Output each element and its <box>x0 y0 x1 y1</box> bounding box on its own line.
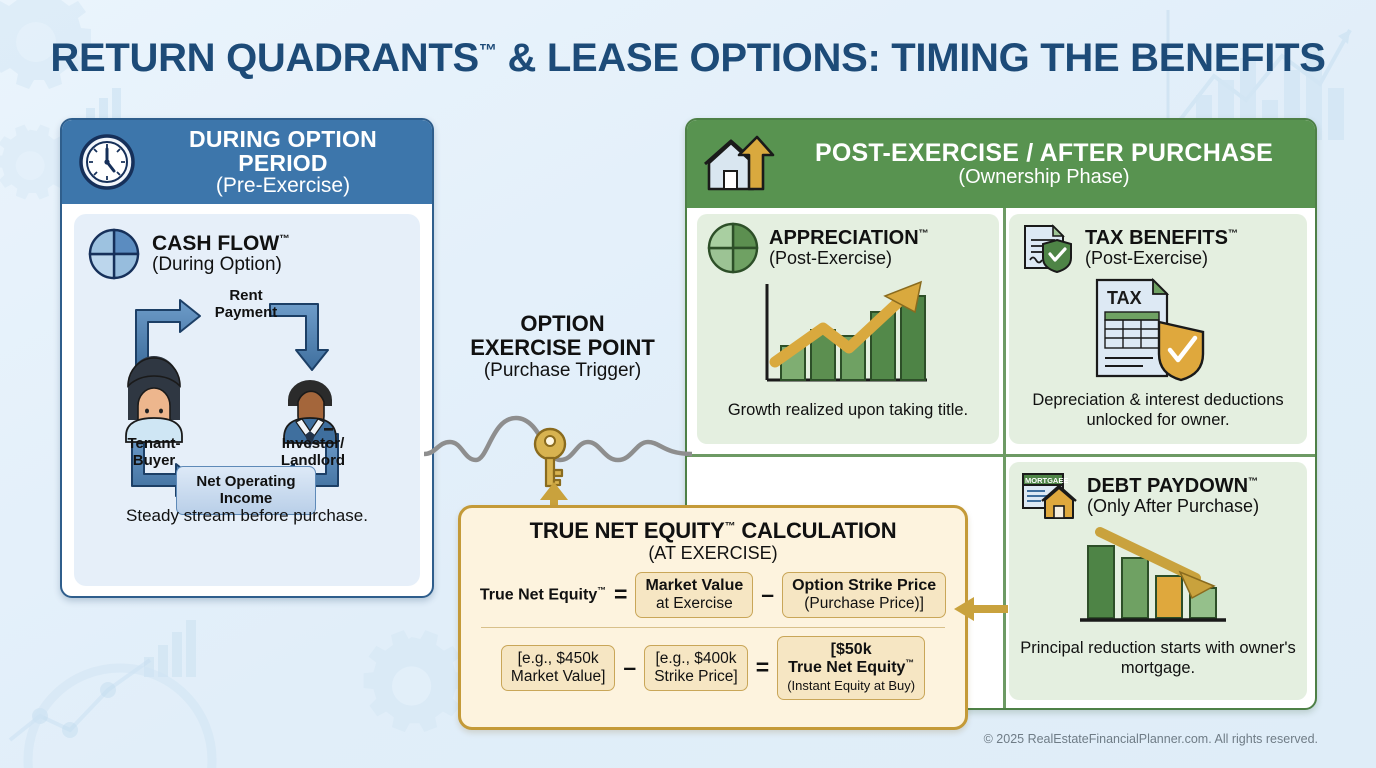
tne-chip4-line2: Strike Price] <box>654 668 738 685</box>
tne-formula-row-2: [e.g., $450k Market Value] – [e.g., $400… <box>475 636 951 700</box>
tne-formula-lead: True Net Equity™ <box>480 585 606 604</box>
appreciation-title: APPRECIATION™ <box>769 228 929 249</box>
tne-market-value-chip: Market Value at Exercise <box>635 572 753 618</box>
tne-divider <box>481 627 945 628</box>
tne-example-market-value-chip: [e.g., $450k Market Value] <box>501 645 615 691</box>
cash-flow-title: CASH FLOW™ <box>152 233 290 255</box>
rising-bar-chart-with-arrow-icon <box>749 278 947 396</box>
copyright-footer: © 2025 RealEstateFinancialPlanner.com. A… <box>984 732 1318 746</box>
cash-flow-diagram: Rent Payment Tenant- Buyer Investor/ Lan… <box>88 286 406 536</box>
debt-paydown-to-tne-arrow <box>952 596 1008 622</box>
trademark-symbol: ™ <box>1248 476 1258 487</box>
exercise-point-subtitle: (Purchase Trigger) <box>440 360 685 382</box>
right-panel-subtitle: (Ownership Phase) <box>789 167 1299 188</box>
tne-equals-1: = <box>614 581 627 608</box>
tne-chip5-line1: [$50k <box>831 641 872 658</box>
right-panel-header: POST-EXERCISE / AFTER PURCHASE (Ownershi… <box>687 120 1315 208</box>
left-panel-header: DURING OPTION PERIOD (Pre-Exercise) <box>62 120 432 204</box>
page-title-rest: & LEASE OPTIONS: TIMING THE BENEFITS <box>507 36 1325 80</box>
tne-minus-2: – <box>623 654 636 681</box>
mortgage-label: MORTGAEE <box>1025 476 1068 485</box>
rent-payment-label: Rent Payment <box>196 288 296 321</box>
quadrant-appreciation: APPRECIATION™ (Post-Exercise) Growth rea… <box>697 214 999 444</box>
debt-paydown-header: MORTGAEE DEBT PAYDOWN™ (Only After Purch… <box>1019 470 1297 522</box>
true-net-equity-calculation-box: TRUE NET EQUITY™ CALCULATION (AT EXERCIS… <box>458 505 968 730</box>
tne-title: TRUE NET EQUITY™ CALCULATION <box>475 518 951 544</box>
tax-benefits-header: TAX BENEFITS™ (Post-Exercise) <box>1019 222 1297 274</box>
tne-formula-row-1: True Net Equity™ = Market Value at Exerc… <box>475 572 951 618</box>
tne-chip3-line2: Market Value] <box>511 668 605 685</box>
left-panel-title: DURING OPTION PERIOD <box>150 127 416 175</box>
page-title: RETURN QUADRANTS™ & LEASE OPTIONS: TIMIN… <box>0 36 1376 81</box>
tne-chip2-line1: Option Strike Price <box>792 577 936 594</box>
tne-chip1-line1: Market Value <box>645 577 743 594</box>
declining-bar-chart-with-arrow-icon <box>1070 524 1246 634</box>
right-panel-title: POST-EXERCISE / AFTER PURCHASE <box>789 140 1299 166</box>
tne-chip4-line1: [e.g., $400k <box>655 650 736 667</box>
trademark-symbol: ™ <box>919 228 929 239</box>
page-title-main: RETURN QUADRANTS <box>50 36 479 80</box>
cash-flow-subtitle: (During Option) <box>152 255 290 275</box>
tax-benefits-caption: Depreciation & interest deductions unloc… <box>1019 391 1297 431</box>
trademark-symbol: ™ <box>597 585 606 595</box>
cash-flow-card: CASH FLOW™ (During Option) <box>74 214 420 586</box>
tne-strike-price-chip: Option Strike Price (Purchase Price)] <box>782 572 946 618</box>
cash-flow-caption: Steady stream before purchase. <box>88 506 406 526</box>
debt-paydown-subtitle: (Only After Purchase) <box>1087 497 1259 516</box>
mortgage-statement-house-icon: MORTGAEE <box>1019 470 1077 522</box>
quadrant-tax-benefits: TAX BENEFITS™ (Post-Exercise) TAX <box>1009 214 1307 444</box>
document-shield-check-icon <box>1019 222 1075 274</box>
trademark-symbol: ™ <box>1228 228 1238 239</box>
house-arrow-up-icon <box>703 133 775 195</box>
left-panel-subtitle: (Pre-Exercise) <box>150 175 416 197</box>
appreciation-subtitle: (Post-Exercise) <box>769 249 929 268</box>
quadrant-pie-icon <box>707 222 759 274</box>
trademark-symbol: ™ <box>725 521 736 533</box>
debt-paydown-caption: Principal reduction starts with owner's … <box>1019 639 1297 679</box>
exercise-point-title: OPTION EXERCISE POINT <box>440 312 685 360</box>
tne-result-chip: [$50k True Net Equity™ (Instant Equity a… <box>777 636 925 700</box>
tax-benefits-subtitle: (Post-Exercise) <box>1085 249 1238 268</box>
trademark-symbol: ™ <box>279 233 290 245</box>
clock-icon <box>78 133 136 191</box>
quadrant-vertical-divider <box>1003 208 1006 708</box>
cash-flow-card-header: CASH FLOW™ (During Option) <box>88 228 406 280</box>
quadrant-pie-icon <box>88 228 140 280</box>
tenant-buyer-label: Tenant- Buyer <box>104 436 204 469</box>
during-option-period-panel: DURING OPTION PERIOD (Pre-Exercise) CASH… <box>60 118 434 598</box>
tne-chip5-line2: True Net Equity™ <box>788 659 914 676</box>
tne-chip5-line3: (Instant Equity at Buy) <box>787 678 915 693</box>
trademark-symbol: ™ <box>479 41 497 61</box>
appreciation-header: APPRECIATION™ (Post-Exercise) <box>707 222 989 274</box>
debt-paydown-title: DEBT PAYDOWN™ <box>1087 476 1259 497</box>
tne-chip3-line1: [e.g., $450k <box>518 650 599 667</box>
option-exercise-point: OPTION EXERCISE POINT (Purchase Trigger) <box>440 312 685 382</box>
tax-form-shield-icon: TAX <box>1083 276 1233 386</box>
tne-example-strike-price-chip: [e.g., $400k Strike Price] <box>644 645 748 691</box>
trademark-symbol: ™ <box>905 658 914 668</box>
tax-benefits-title: TAX BENEFITS™ <box>1085 228 1238 249</box>
appreciation-caption: Growth realized upon taking title. <box>707 401 989 421</box>
key-icon <box>535 429 565 486</box>
tne-equals-2: = <box>756 654 769 681</box>
tne-minus-1: – <box>761 581 774 608</box>
quadrant-horizontal-divider <box>687 454 1315 457</box>
tne-chip1-line2: at Exercise <box>656 595 733 612</box>
tne-chip2-line2: (Purchase Price)] <box>804 595 924 612</box>
tne-subtitle: (AT EXERCISE) <box>475 543 951 564</box>
investor-landlord-label: Investor/ Landlord <box>258 436 368 469</box>
tenant-avatar <box>126 356 182 442</box>
quadrant-debt-paydown: MORTGAEE DEBT PAYDOWN™ (Only After Purch… <box>1009 462 1307 700</box>
tax-form-label: TAX <box>1107 288 1142 308</box>
